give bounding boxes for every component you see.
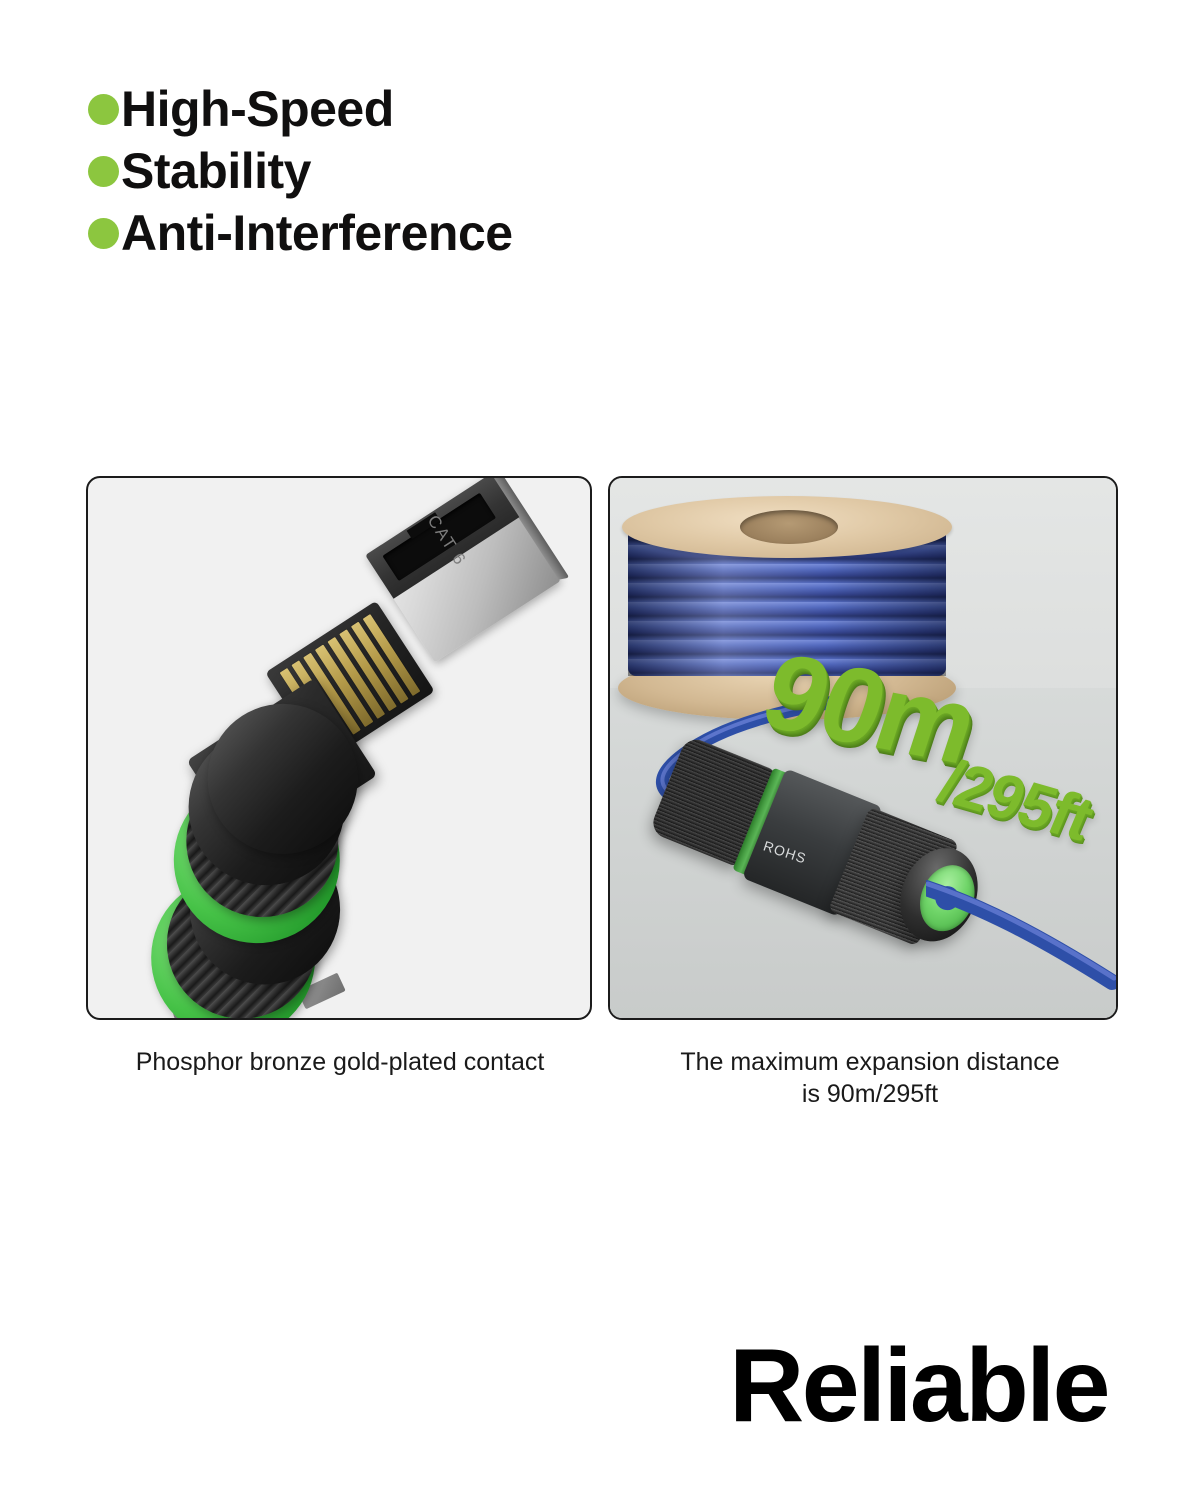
feature-item-anti-interference: Anti-Interference <box>88 202 513 264</box>
feature-label: Stability <box>121 146 311 196</box>
feature-label: High-Speed <box>121 84 394 134</box>
cable-exit <box>926 878 1118 1008</box>
caption-right: The maximum expansion distance is 90m/29… <box>620 1046 1120 1110</box>
bullet-icon <box>88 156 119 187</box>
distance-imperial-text: /295ft <box>931 751 1101 851</box>
feature-item-high-speed: High-Speed <box>88 78 513 140</box>
spool-center-hole <box>740 510 838 544</box>
spool-top-flange <box>622 496 952 558</box>
caption-right-line2: is 90m/295ft <box>620 1078 1120 1110</box>
rj45-coupler-illustration: CAT 6 <box>88 478 592 1020</box>
caption-right-line1: The maximum expansion distance <box>620 1046 1120 1078</box>
bullet-icon <box>88 94 119 125</box>
wordmark-reliable: Reliable <box>729 1334 1108 1438</box>
product-photo-panel-left: CAT 6 <box>86 476 592 1020</box>
caption-left: Phosphor bronze gold-plated contact <box>60 1046 620 1078</box>
threaded-barrel-assembly <box>86 642 511 1020</box>
feature-list: High-Speed Stability Anti-Interference <box>88 78 513 264</box>
cable-distance-illustration: ROHS 90m /295ft <box>610 478 1118 1020</box>
product-photo-row: CAT 6 <box>86 476 1118 1020</box>
feature-item-stability: Stability <box>88 140 513 202</box>
product-photo-panel-right: ROHS 90m /295ft <box>608 476 1118 1020</box>
infographic-page: High-Speed Stability Anti-Interference C… <box>0 0 1200 1500</box>
feature-label: Anti-Interference <box>121 208 513 258</box>
bullet-icon <box>88 218 119 249</box>
